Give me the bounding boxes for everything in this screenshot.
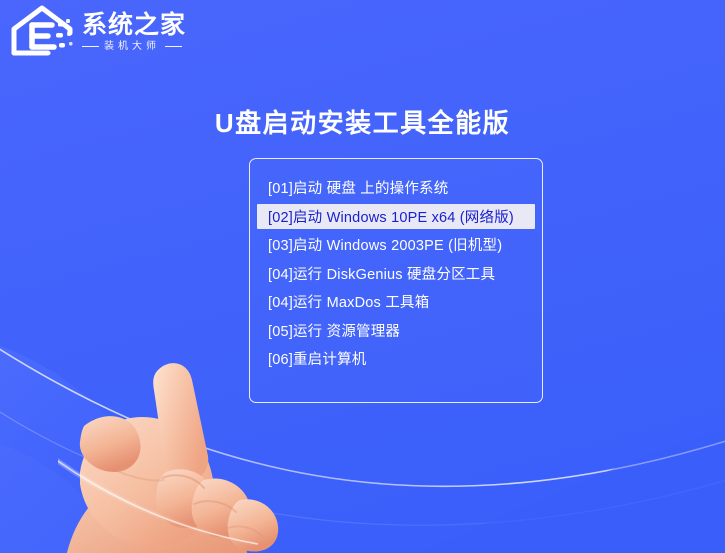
brand-name: 系统之家 <box>82 12 186 38</box>
menu-item-01[interactable]: [01]启动 硬盘 上的操作系统 <box>257 175 535 200</box>
menu-item-03[interactable]: [03]启动 Windows 2003PE (旧机型) <box>257 232 535 257</box>
subtitle-dash-left <box>82 46 99 48</box>
brand-text-block: 系统之家 装机大师 <box>82 10 186 51</box>
brand-subtitle: 装机大师 <box>104 42 160 52</box>
menu-item-04-maxdos[interactable]: [04]运行 MaxDos 工具箱 <box>257 289 535 314</box>
menu-item-06[interactable]: [06]重启计算机 <box>257 346 535 371</box>
menu-item-04-diskgenius[interactable]: [04]运行 DiskGenius 硬盘分区工具 <box>257 261 535 286</box>
brand-logo: 系统之家 装机大师 <box>8 2 208 60</box>
menu-item-02[interactable]: [02]启动 Windows 10PE x64 (网络版) <box>257 204 535 229</box>
boot-menu-screen: 系统之家 装机大师 U盘启动安装工具全能版 [01]启动 硬盘 上的操作系统 [… <box>0 0 725 553</box>
brand-subtitle-row: 装机大师 <box>82 42 186 52</box>
boot-menu-panel: [01]启动 硬盘 上的操作系统 [02]启动 Windows 10PE x64… <box>249 158 543 403</box>
house-logo-icon <box>8 3 80 59</box>
page-title: U盘启动安装工具全能版 <box>0 103 725 140</box>
subtitle-dash-right <box>165 46 182 48</box>
menu-item-05[interactable]: [05]运行 资源管理器 <box>257 318 535 343</box>
